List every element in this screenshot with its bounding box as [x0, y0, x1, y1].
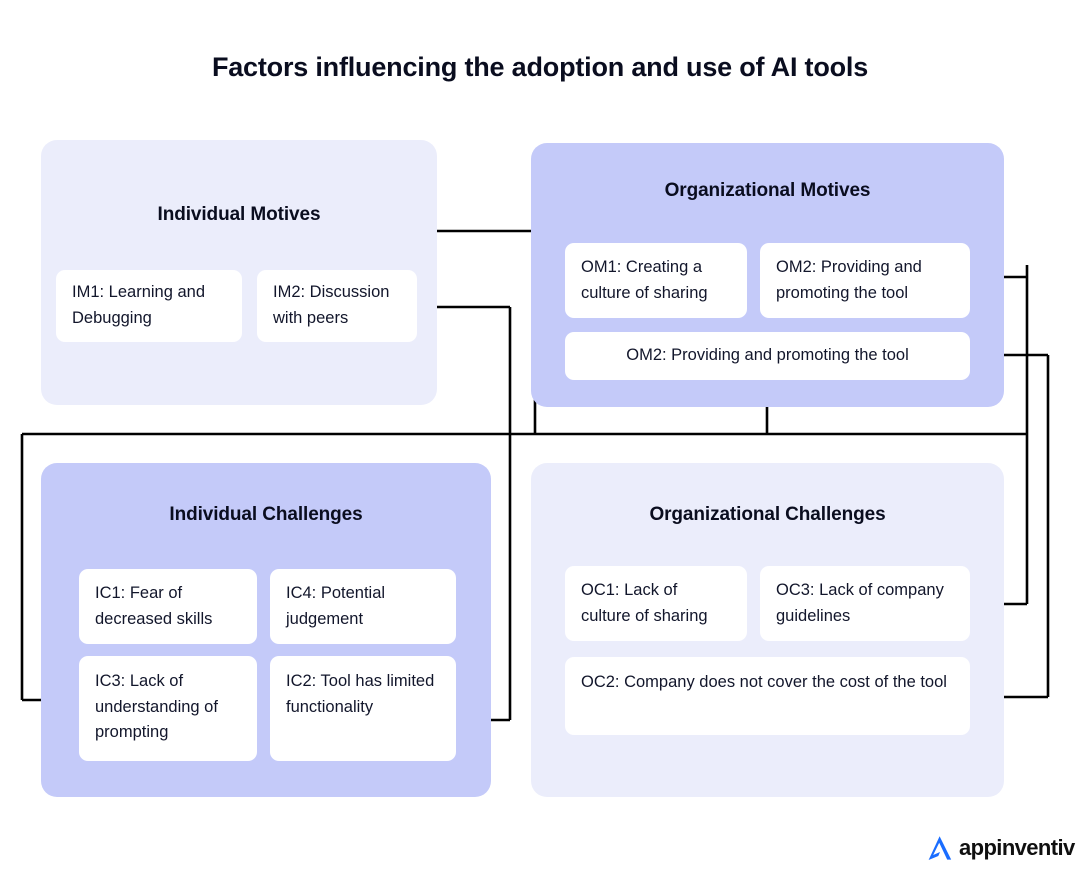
- appinventiv-a-mark-icon: [925, 833, 955, 863]
- quadrant-title-individual-challenges: Individual Challenges: [41, 504, 491, 526]
- card-ic4[interactable]: IC4: Potential judgement: [270, 569, 456, 644]
- page-title: Factors influencing the adoption and use…: [0, 52, 1080, 83]
- card-im1-label: IM1: Learning and Debugging: [72, 280, 226, 331]
- card-ic3-label: IC3: Lack of understanding of prompting: [95, 669, 241, 746]
- card-ic2[interactable]: IC2: Tool has limited functionality: [270, 656, 456, 761]
- card-oc2[interactable]: OC2: Company does not cover the cost of …: [565, 657, 970, 735]
- appinventiv-logo: appinventiv: [925, 833, 1075, 863]
- diagram-canvas: Factors influencing the adoption and use…: [0, 0, 1080, 886]
- card-oc1[interactable]: OC1: Lack of culture of sharing: [565, 566, 747, 641]
- card-im1[interactable]: IM1: Learning and Debugging: [56, 270, 242, 342]
- card-ic1-label: IC1: Fear of decreased skills: [95, 581, 241, 632]
- quadrant-title-individual-motives: Individual Motives: [41, 204, 437, 226]
- quadrant-title-organizational-motives: Organizational Motives: [531, 180, 1004, 202]
- card-om2b-label: OM2: Providing and promoting the tool: [626, 343, 909, 369]
- card-ic1[interactable]: IC1: Fear of decreased skills: [79, 569, 257, 644]
- card-ic4-label: IC4: Potential judgement: [286, 581, 440, 632]
- card-oc2-label: OC2: Company does not cover the cost of …: [581, 670, 947, 696]
- card-ic2-label: IC2: Tool has limited functionality: [286, 669, 440, 720]
- card-oc1-label: OC1: Lack of culture of sharing: [581, 578, 731, 629]
- card-om1-label: OM1: Creating a culture of sharing: [581, 255, 731, 306]
- card-oc3[interactable]: OC3: Lack of company guidelines: [760, 566, 970, 641]
- appinventiv-wordmark: appinventiv: [959, 837, 1075, 859]
- quadrant-title-organizational-challenges: Organizational Challenges: [531, 504, 1004, 526]
- card-oc3-label: OC3: Lack of company guidelines: [776, 578, 954, 629]
- card-im2[interactable]: IM2: Discussion with peers: [257, 270, 417, 342]
- card-om2a-label: OM2: Providing and promoting the tool: [776, 255, 954, 306]
- card-om2b[interactable]: OM2: Providing and promoting the tool: [565, 332, 970, 380]
- card-ic3[interactable]: IC3: Lack of understanding of prompting: [79, 656, 257, 761]
- card-om2a[interactable]: OM2: Providing and promoting the tool: [760, 243, 970, 318]
- card-om1[interactable]: OM1: Creating a culture of sharing: [565, 243, 747, 318]
- card-im2-label: IM2: Discussion with peers: [273, 280, 401, 331]
